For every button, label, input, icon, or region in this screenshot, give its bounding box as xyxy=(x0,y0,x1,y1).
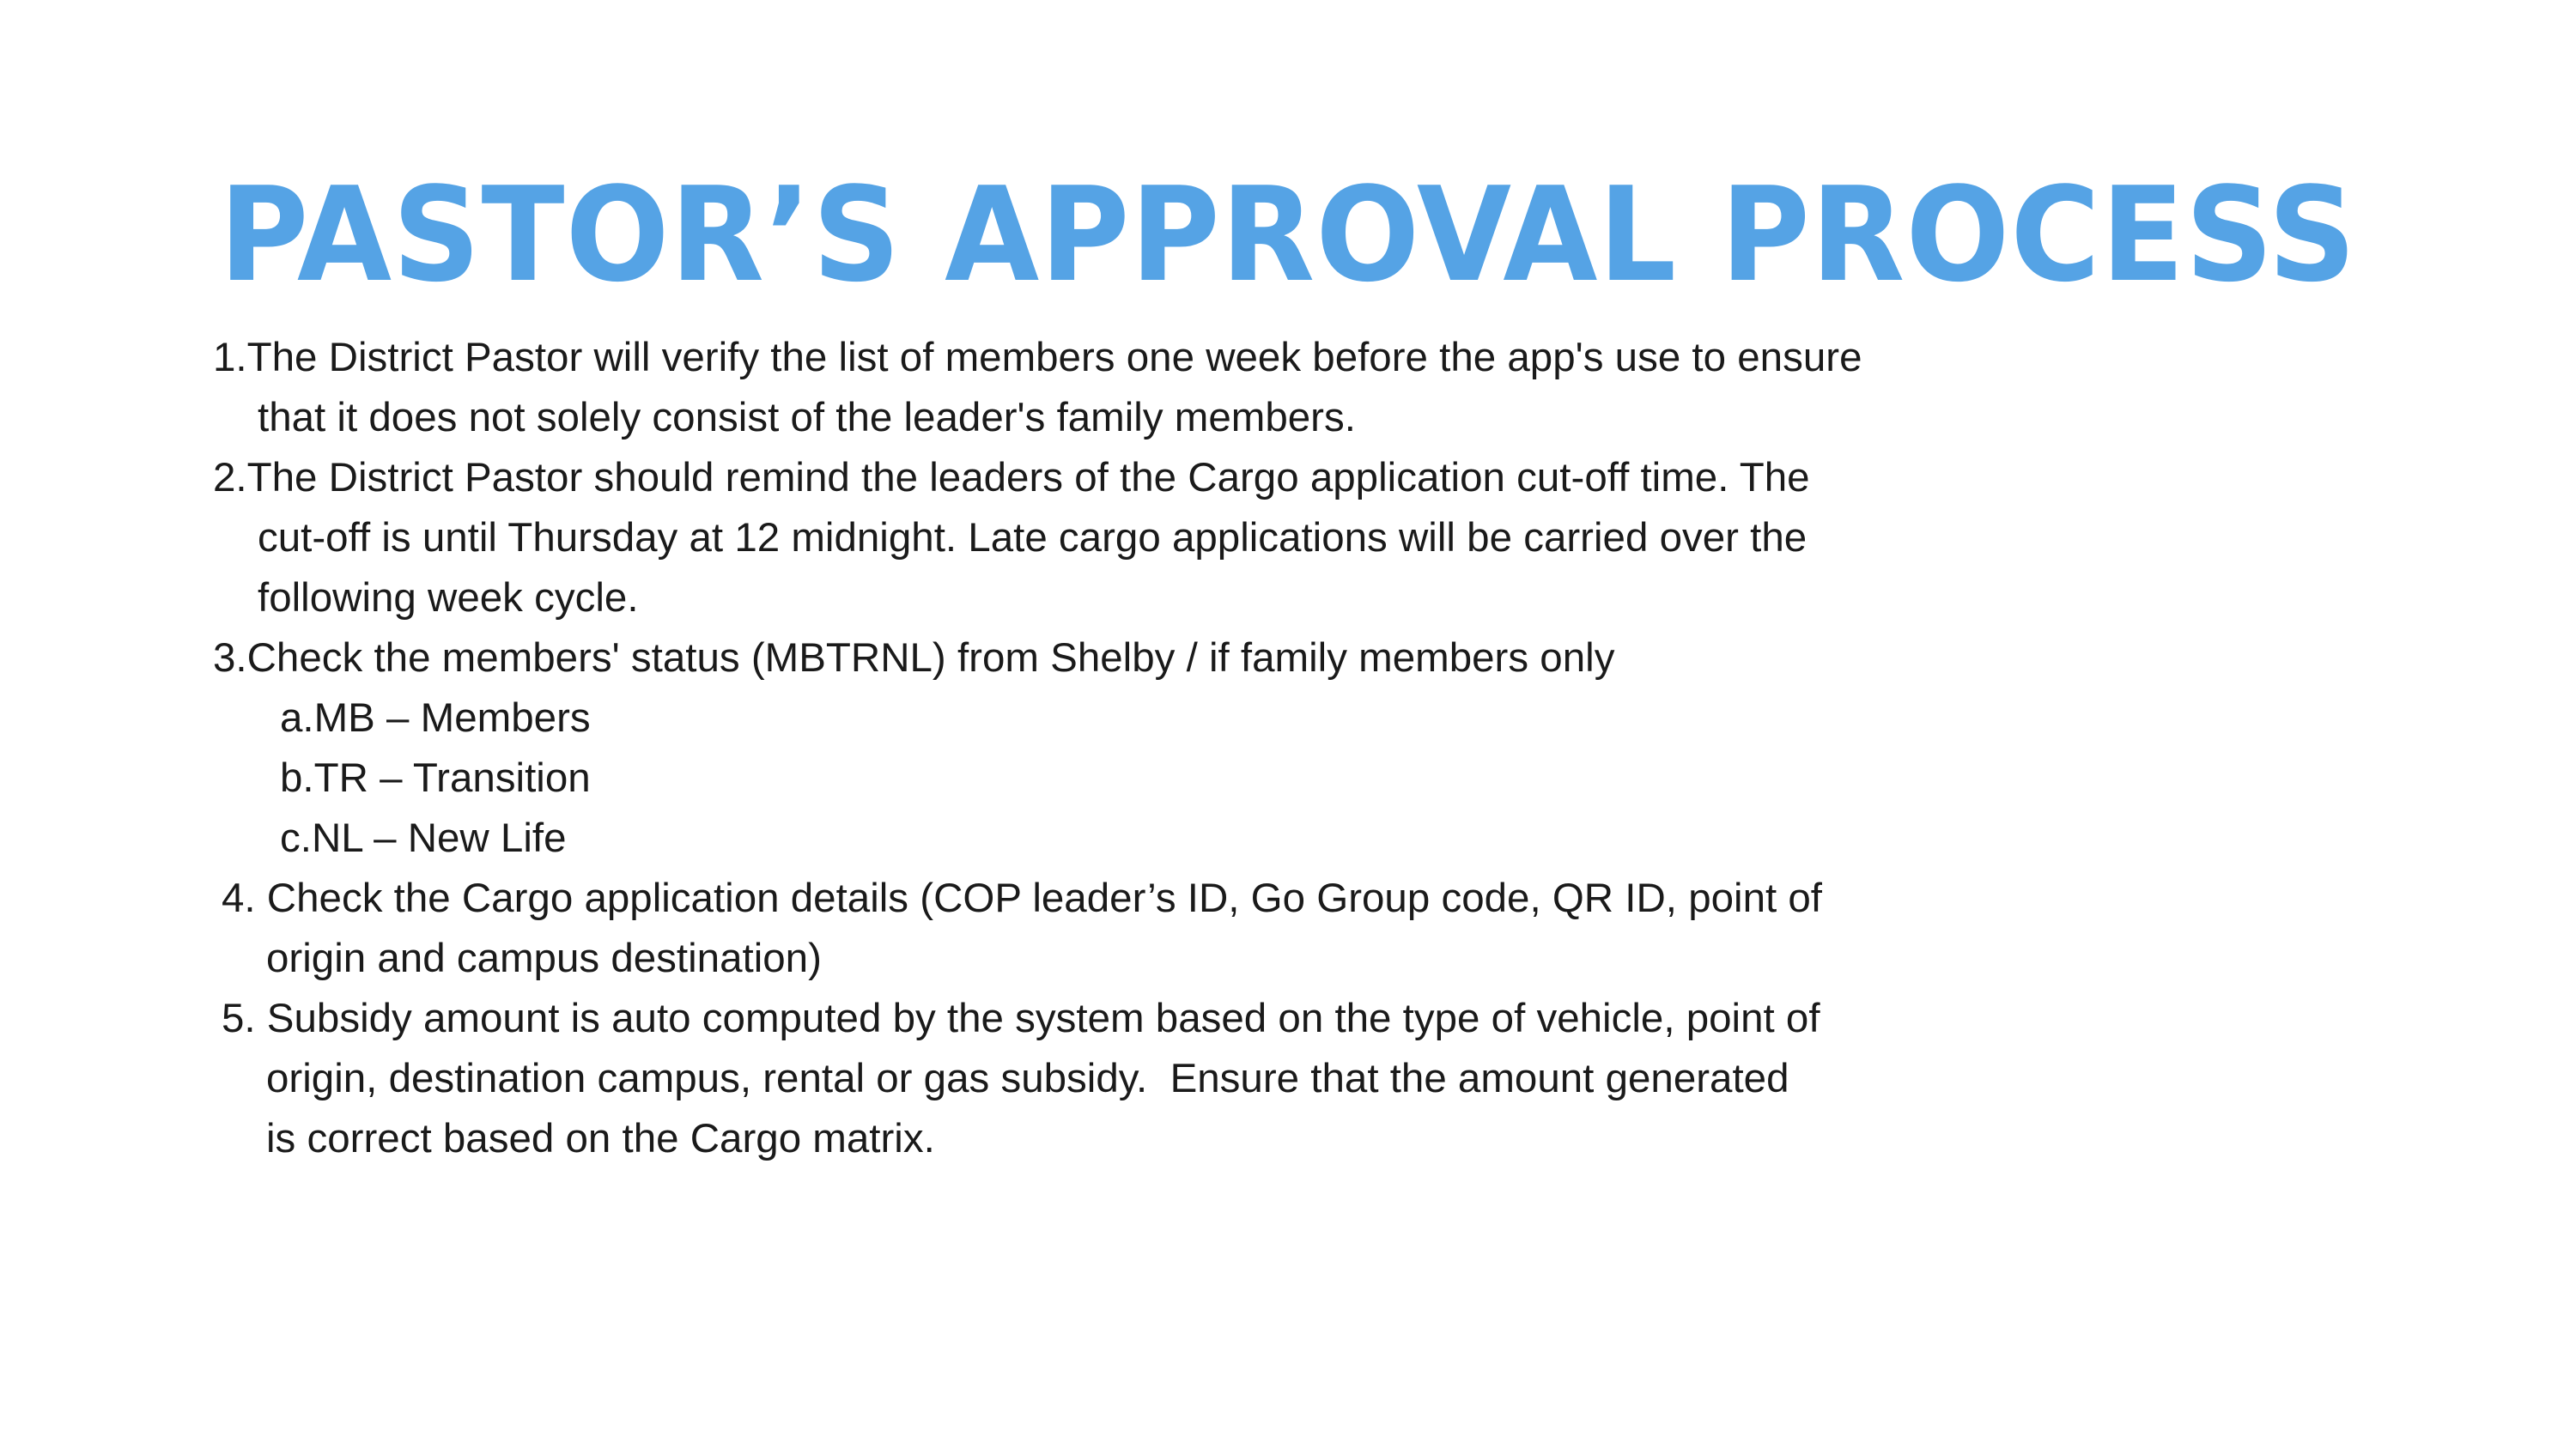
list-item-line: that it does not solely consist of the l… xyxy=(213,388,2342,448)
list-item-line: 3.Check the members' status (MBTRNL) fro… xyxy=(213,628,2342,688)
list-item: 3.Check the members' status (MBTRNL) fro… xyxy=(213,628,2342,688)
list-item-line: a.MB – Members xyxy=(280,688,2342,749)
slide-canvas: PASTOR’S APPROVAL PROCESS 1.The District… xyxy=(0,0,2576,1449)
list-item-line: cut-off is until Thursday at 12 midnight… xyxy=(213,508,2342,568)
list-item: 4. Check the Cargo application details (… xyxy=(213,869,2342,989)
page-title: PASTOR’S APPROVAL PROCESS xyxy=(0,170,2576,300)
list-item: a.MB – Members xyxy=(213,688,2342,749)
list-item: b.TR – Transition xyxy=(213,749,2342,809)
list-item-line: c.NL – New Life xyxy=(280,809,2342,869)
list-item: c.NL – New Life xyxy=(213,809,2342,869)
list-item-line: origin, destination campus, rental or ga… xyxy=(222,1049,2342,1109)
list-item-line: 2.The District Pastor should remind the … xyxy=(213,448,2342,508)
list-item-line: following week cycle. xyxy=(213,568,2342,628)
list-item: 2.The District Pastor should remind the … xyxy=(213,448,2342,628)
list-item-line: origin and campus destination) xyxy=(222,929,2342,989)
list-item-line: is correct based on the Cargo matrix. xyxy=(222,1109,2342,1169)
list-item: 1.The District Pastor will verify the li… xyxy=(213,328,2342,448)
list-item-line: b.TR – Transition xyxy=(280,749,2342,809)
list-item: 5. Subsidy amount is auto computed by th… xyxy=(213,989,2342,1169)
list-item-line: 1.The District Pastor will verify the li… xyxy=(213,328,2342,388)
approval-process-list: 1.The District Pastor will verify the li… xyxy=(213,328,2342,1169)
list-item-line: 4. Check the Cargo application details (… xyxy=(222,869,2342,929)
list-item-line: 5. Subsidy amount is auto computed by th… xyxy=(222,989,2342,1049)
